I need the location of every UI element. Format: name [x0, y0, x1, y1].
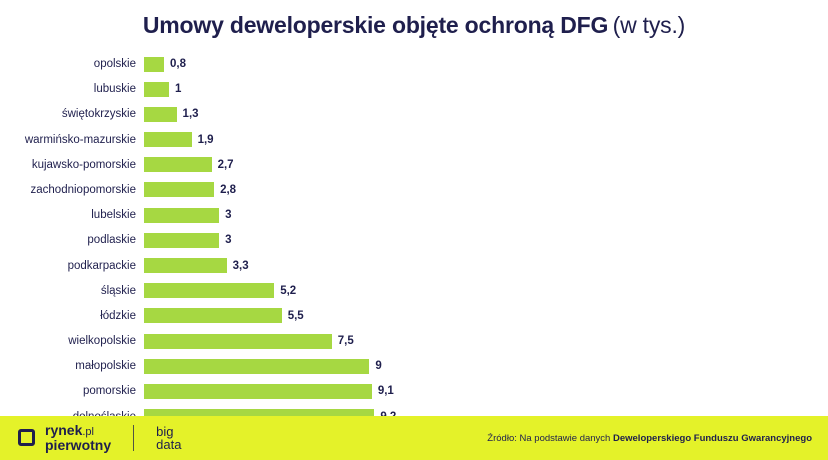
category-label: lubuskie [0, 83, 144, 95]
bar-row: podkarpackie3,3 [0, 255, 828, 277]
bar-value-label: 9,1 [378, 385, 394, 397]
bar-value-label: 0,8 [170, 58, 186, 70]
bar-value-label: 3 [225, 234, 231, 246]
bar [144, 233, 219, 248]
bar [144, 384, 372, 399]
bar-value-label: 3,3 [233, 260, 249, 272]
bar-zone: 9 [144, 355, 828, 377]
bar-zone: 7,5 [144, 330, 828, 352]
bar-row: zachodniopomorskie2,8 [0, 179, 828, 201]
bar-value-label: 3 [225, 209, 231, 221]
bar-zone: 9,1 [144, 380, 828, 402]
bar-zone: 3 [144, 229, 828, 251]
bar-value-label: 2,8 [220, 184, 236, 196]
bar [144, 182, 214, 197]
brand-name: rynek.pl pierwotny [45, 423, 111, 452]
bigdata-line2: data [156, 438, 181, 451]
bar-row: podlaskie3 [0, 229, 828, 251]
bar-value-label: 2,7 [218, 159, 234, 171]
category-label: zachodniopomorskie [0, 184, 144, 196]
bar-row: lubuskie1 [0, 78, 828, 100]
bar [144, 334, 332, 349]
bar-row: świętokrzyskie1,3 [0, 103, 828, 125]
bar-row: lubelskie3 [0, 204, 828, 226]
bar-zone: 2,8 [144, 179, 828, 201]
source-note: Źródło: Na podstawie danych Deweloperski… [487, 433, 812, 444]
bar-row: pomorskie9,1 [0, 380, 828, 402]
category-label: świętokrzyskie [0, 108, 144, 120]
page-title: Umowy deweloperskie objęte ochroną DFG (… [0, 0, 828, 37]
bar-row: opolskie0,8 [0, 53, 828, 75]
category-label: pomorskie [0, 385, 144, 397]
category-label: łódzkie [0, 310, 144, 322]
bar-zone: 2,7 [144, 154, 828, 176]
bar-row: małopolskie9 [0, 355, 828, 377]
category-label: opolskie [0, 58, 144, 70]
bar-zone: 1,3 [144, 103, 828, 125]
bar [144, 258, 227, 273]
category-label: podkarpackie [0, 260, 144, 272]
category-label: lubelskie [0, 209, 144, 221]
footer-bar: rynek.pl pierwotny big data Źródło: Na p… [0, 416, 828, 460]
bar [144, 107, 177, 122]
bar-row: łódzkie5,5 [0, 305, 828, 327]
brand-divider [133, 425, 134, 451]
bar-row: kujawsko-pomorskie2,7 [0, 154, 828, 176]
bar-row: wielkopolskie7,5 [0, 330, 828, 352]
bar [144, 283, 274, 298]
bar-zone: 1,9 [144, 129, 828, 151]
bar [144, 359, 369, 374]
bar-zone: 3 [144, 204, 828, 226]
bar-chart: opolskie0,8lubuskie1świętokrzyskie1,3war… [0, 53, 828, 453]
bigdata-label: big data [156, 425, 181, 452]
category-label: podlaskie [0, 234, 144, 246]
source-prefix: Źródło: Na podstawie danych [487, 433, 613, 444]
chart-title-main: Umowy deweloperskie objęte ochroną DFG [143, 12, 608, 38]
category-label: małopolskie [0, 360, 144, 372]
brand-logo: rynek.pl pierwotny big data [18, 423, 181, 452]
bar-value-label: 1,9 [198, 134, 214, 146]
bar-value-label: 7,5 [338, 335, 354, 347]
category-label: wielkopolskie [0, 335, 144, 347]
bar [144, 208, 219, 223]
bar-zone: 5,5 [144, 305, 828, 327]
bar [144, 308, 282, 323]
bar-value-label: 1 [175, 83, 181, 95]
brand-line1: rynek [45, 422, 82, 438]
brand-tld: .pl [82, 426, 94, 438]
bar [144, 157, 212, 172]
category-label: warmińsko-mazurskie [0, 134, 144, 146]
bar-value-label: 5,2 [280, 285, 296, 297]
bar-value-label: 9 [375, 360, 381, 372]
bigdata-line1: big [156, 425, 181, 438]
bar [144, 132, 192, 147]
bar-value-label: 1,3 [183, 108, 199, 120]
bar-zone: 5,2 [144, 280, 828, 302]
bar-zone: 0,8 [144, 53, 828, 75]
logo-square-icon [18, 429, 35, 446]
category-label: kujawsko-pomorskie [0, 159, 144, 171]
bar [144, 57, 164, 72]
chart-title-unit: (w tys.) [613, 12, 686, 38]
brand-line2: pierwotny [45, 438, 111, 452]
bar [144, 82, 169, 97]
bar-row: śląskie5,2 [0, 280, 828, 302]
bar-zone: 3,3 [144, 255, 828, 277]
source-bold: Deweloperskiego Funduszu Gwarancyjnego [613, 433, 812, 444]
bar-zone: 1 [144, 78, 828, 100]
bar-row: warmińsko-mazurskie1,9 [0, 129, 828, 151]
bar-value-label: 5,5 [288, 310, 304, 322]
category-label: śląskie [0, 285, 144, 297]
